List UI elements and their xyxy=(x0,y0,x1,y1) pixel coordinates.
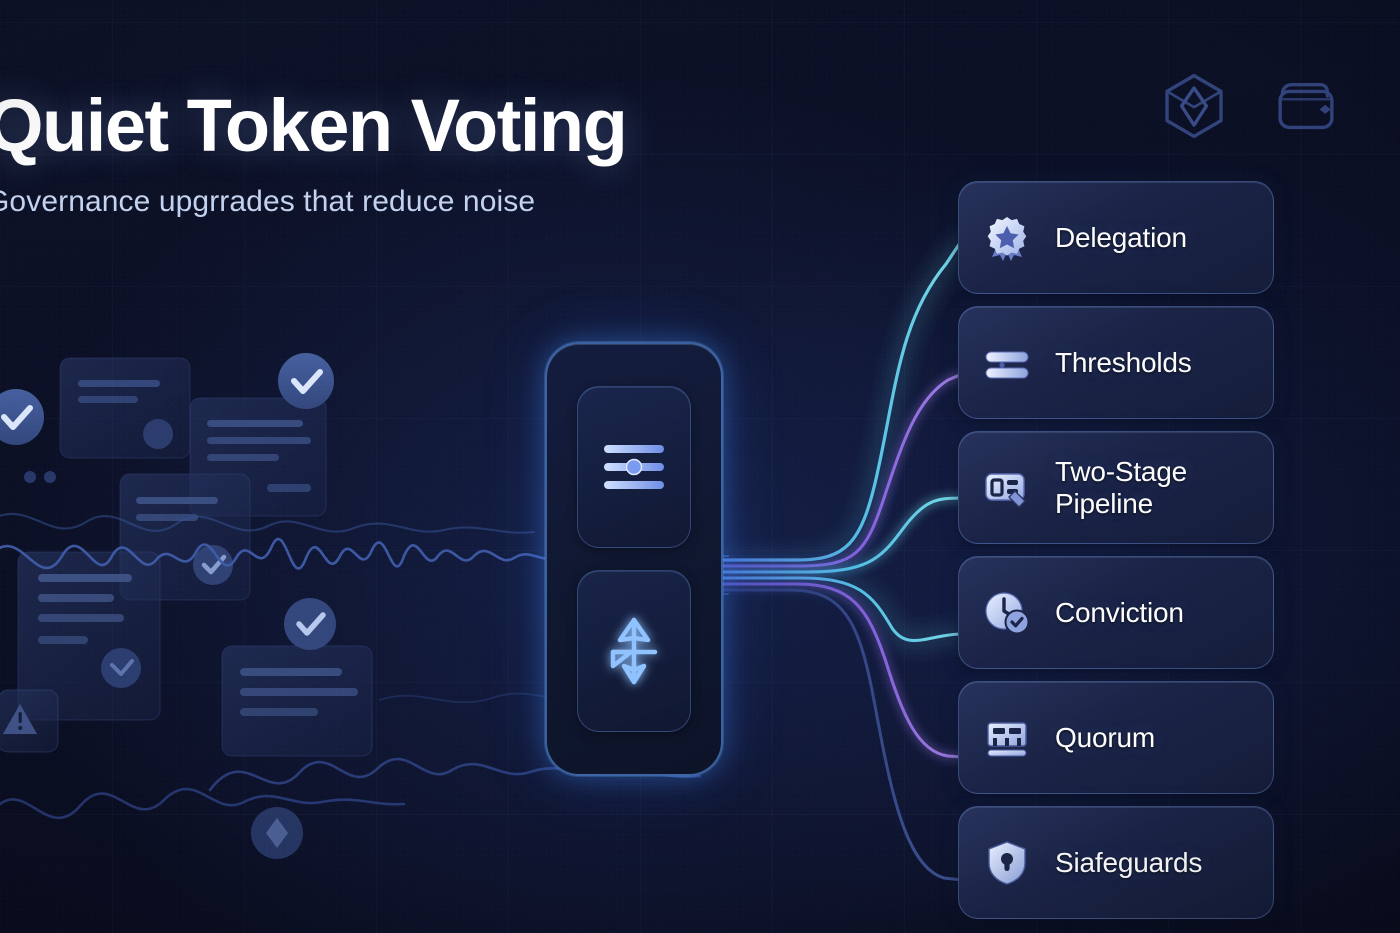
feature-card-label: Conviction xyxy=(1055,597,1184,629)
proposal-document xyxy=(60,358,190,458)
feature-card-label: Thresholds xyxy=(1055,347,1192,379)
feature-card-label: Quorum xyxy=(1055,722,1155,754)
proposal-document xyxy=(222,646,372,756)
feature-card-label-line2: Pipeline xyxy=(1055,488,1153,519)
feature-card-label: Two-Stage Pipeline xyxy=(1055,456,1187,520)
approved-check xyxy=(0,389,44,445)
wallet-icon[interactable] xyxy=(1270,70,1342,142)
cube-token-icon[interactable] xyxy=(1158,70,1230,142)
warning-alert xyxy=(0,690,58,752)
sliders-icon xyxy=(981,337,1033,389)
approved-check xyxy=(278,353,334,409)
feature-card-thresholds[interactable]: Thresholds xyxy=(958,306,1274,419)
page-title: Quiet Token Voting xyxy=(0,88,626,163)
feature-card-label: Siafeguards xyxy=(1055,847,1202,879)
module-panel-flow[interactable] xyxy=(577,570,691,732)
pipeline-tag-icon xyxy=(981,462,1033,514)
canvas: Quiet Token Voting Governance upgrrades … xyxy=(0,0,1400,933)
noise-filter-module[interactable] xyxy=(545,342,723,776)
feature-card-label-line1: Two-Stage xyxy=(1055,456,1187,487)
feature-card-safeguards[interactable]: Siafeguards xyxy=(958,806,1274,919)
top-right-icon-group xyxy=(1158,70,1342,142)
proposal-documents-group xyxy=(0,358,372,756)
feature-card-label: Delegation xyxy=(1055,222,1187,254)
page-header: Quiet Token Voting Governance upgrrades … xyxy=(0,88,626,219)
shield-lock-icon xyxy=(981,837,1033,889)
feature-card-list: Delegation Thresholds xyxy=(958,181,1274,931)
module-panel-sliders[interactable] xyxy=(577,386,691,548)
dot xyxy=(44,471,56,483)
clock-check-icon xyxy=(981,587,1033,639)
dot xyxy=(24,471,36,483)
feature-card-quorum[interactable]: Quorum xyxy=(958,681,1274,794)
approved-check xyxy=(284,598,336,650)
feature-card-conviction[interactable]: Conviction xyxy=(958,556,1274,669)
page-subtitle: Governance upgrrades that reduce noise xyxy=(0,185,626,219)
badge-star-icon xyxy=(981,212,1033,264)
feature-card-two-stage-pipeline[interactable]: Two-Stage Pipeline xyxy=(958,431,1274,544)
quorum-bars-icon xyxy=(981,712,1033,764)
token-diamond xyxy=(251,807,303,859)
bidirectional-arrow-icon xyxy=(591,608,677,694)
sliders-settings-icon xyxy=(594,431,674,503)
feature-card-delegation[interactable]: Delegation xyxy=(958,181,1274,294)
